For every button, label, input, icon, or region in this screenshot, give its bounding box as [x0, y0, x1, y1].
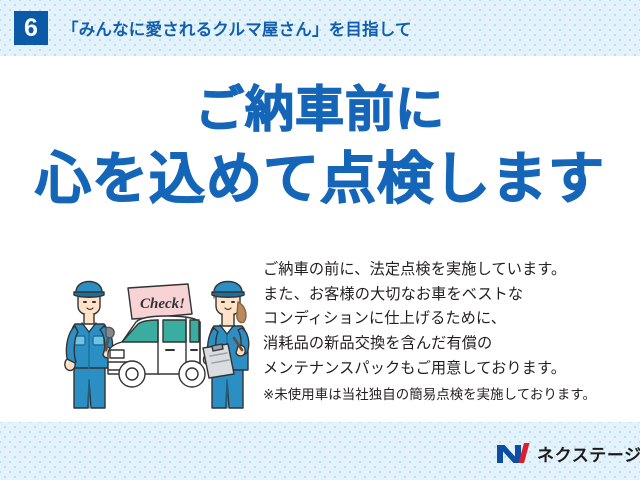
promo-banner: 6 「みんなに愛されるクルマ屋さん」を目指して ご納車前に 心を込めて点検します — [0, 0, 640, 480]
female-mechanic-figure — [203, 282, 249, 409]
headline-line-2: 心を込めて点検します — [0, 150, 640, 207]
headline: ご納車前に 心を込めて点検します — [0, 86, 640, 207]
inspected-car — [108, 316, 205, 387]
body-line-1: ご納車の前に、法定点検を実施しています。 — [263, 258, 623, 283]
header: 6 「みんなに愛されるクルマ屋さん」を目指して — [0, 0, 640, 56]
illustration-mechanics-car: Check! — [62, 262, 262, 412]
body-note: ※未使用車は当社独自の簡易点検を実施しております。 — [263, 384, 623, 406]
body-line-3: コンディションに仕上げるために、 — [263, 307, 623, 332]
step-number-badge: 6 — [14, 11, 48, 45]
body-line-4: 消耗品の新品交換を含んだ有償の — [263, 332, 623, 357]
body-line-5: メンテナンスパックもご用意しております。 — [263, 357, 623, 382]
male-mechanic-figure — [65, 282, 114, 409]
nextage-logo-text: ネクステージ — [537, 441, 640, 466]
illustration-svg: Check! — [62, 262, 262, 412]
nextage-logo: ネクステージ — [496, 440, 640, 466]
header-title: 「みんなに愛されるクルマ屋さん」を目指して — [62, 16, 412, 40]
nextage-n-mark-icon — [496, 441, 530, 465]
headline-line-1: ご納車前に — [0, 86, 640, 136]
body-copy: ご納車の前に、法定点検を実施しています。 また、お客様の大切なお車をベストな コ… — [263, 258, 623, 406]
check-bubble-text: Check! — [140, 296, 185, 312]
body-line-2: また、お客様の大切なお車をベストな — [263, 283, 623, 308]
